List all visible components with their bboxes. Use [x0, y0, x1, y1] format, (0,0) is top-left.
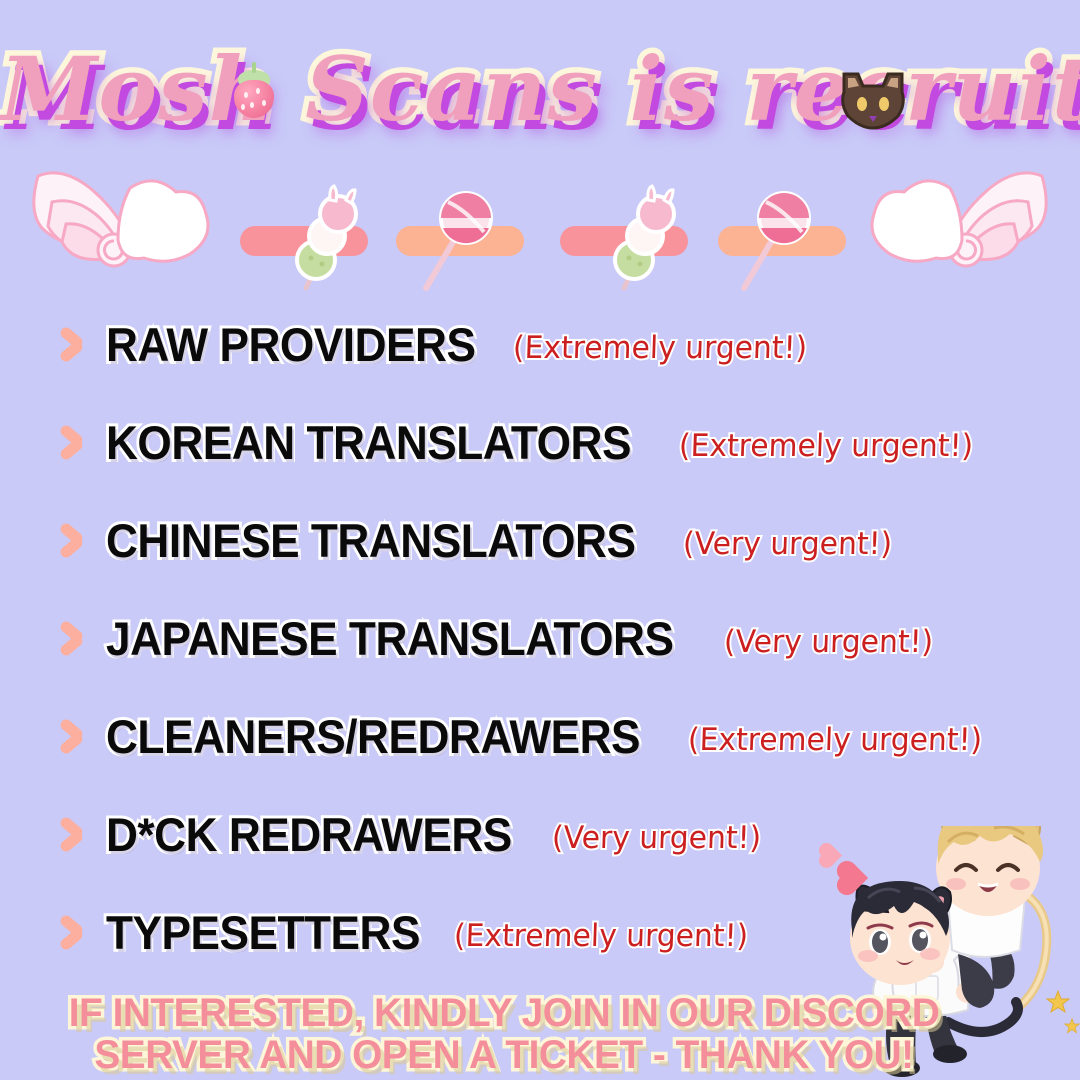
footer-call-to-action: IF INTERESTED, KINDLY JOIN IN OUR DISCOR…	[68, 992, 941, 1076]
lollipop-icon	[408, 184, 494, 296]
list-item: KOREAN TRANSLATORS (Extremely urgent!)	[0, 394, 1080, 492]
list-item: CHINESE TRANSLATORS (Very urgent!)	[0, 492, 1080, 590]
status-badge: (Extremely urgent!)	[453, 918, 748, 954]
recruitment-poster: Mosh Scans is recruiting!	[0, 0, 1080, 1080]
title-area: Mosh Scans is recruiting!	[0, 28, 1080, 158]
star-icon	[1064, 1018, 1080, 1034]
role-title: KOREAN TRANSLATORS	[106, 417, 631, 469]
chevron-right-icon	[56, 521, 86, 561]
chevron-right-icon	[56, 423, 86, 463]
page-title: Mosh Scans is recruiting!	[0, 28, 1080, 150]
status-badge: (Extremely urgent!)	[678, 428, 973, 464]
role-title: TYPESETTERS	[106, 907, 420, 959]
decorative-divider	[0, 160, 1080, 290]
strawberry-icon	[228, 64, 280, 120]
winged-cloud-icon	[866, 162, 1062, 284]
chevron-right-icon	[56, 913, 86, 953]
role-title: RAW PROVIDERS	[106, 319, 475, 371]
chevron-right-icon	[56, 619, 86, 659]
role-title: JAPANESE TRANSLATORS	[106, 613, 673, 665]
lollipop-icon	[726, 184, 812, 296]
bunny-dango-skewer-icon	[286, 184, 372, 296]
role-title: D*CK REDRAWERS	[106, 809, 512, 861]
role-title: CLEANERS/REDRAWERS	[106, 711, 640, 763]
chevron-right-icon	[56, 717, 86, 757]
winged-cloud-icon	[18, 162, 214, 284]
list-item: JAPANESE TRANSLATORS (Very urgent!)	[0, 590, 1080, 688]
chevron-right-icon	[56, 815, 86, 855]
list-item: CLEANERS/REDRAWERS (Extremely urgent!)	[0, 688, 1080, 786]
bunny-dango-skewer-icon	[604, 184, 690, 296]
status-badge: (Very urgent!)	[683, 526, 893, 562]
status-badge: (Extremely urgent!)	[512, 330, 807, 366]
status-badge: (Very urgent!)	[723, 624, 933, 660]
chevron-right-icon	[56, 325, 86, 365]
role-title: CHINESE TRANSLATORS	[106, 515, 635, 567]
footer-line-1: IF INTERESTED, KINDLY JOIN IN OUR DISCOR…	[68, 992, 941, 1034]
footer-line-2: SERVER AND OPEN A TICKET - THANK YOU!	[68, 1034, 941, 1076]
status-badge: (Very urgent!)	[551, 820, 761, 856]
star-icon	[1046, 990, 1070, 1014]
list-item: RAW PROVIDERS (Extremely urgent!)	[0, 296, 1080, 394]
status-badge: (Extremely urgent!)	[688, 722, 983, 758]
pixel-cat-head-icon	[836, 70, 910, 134]
